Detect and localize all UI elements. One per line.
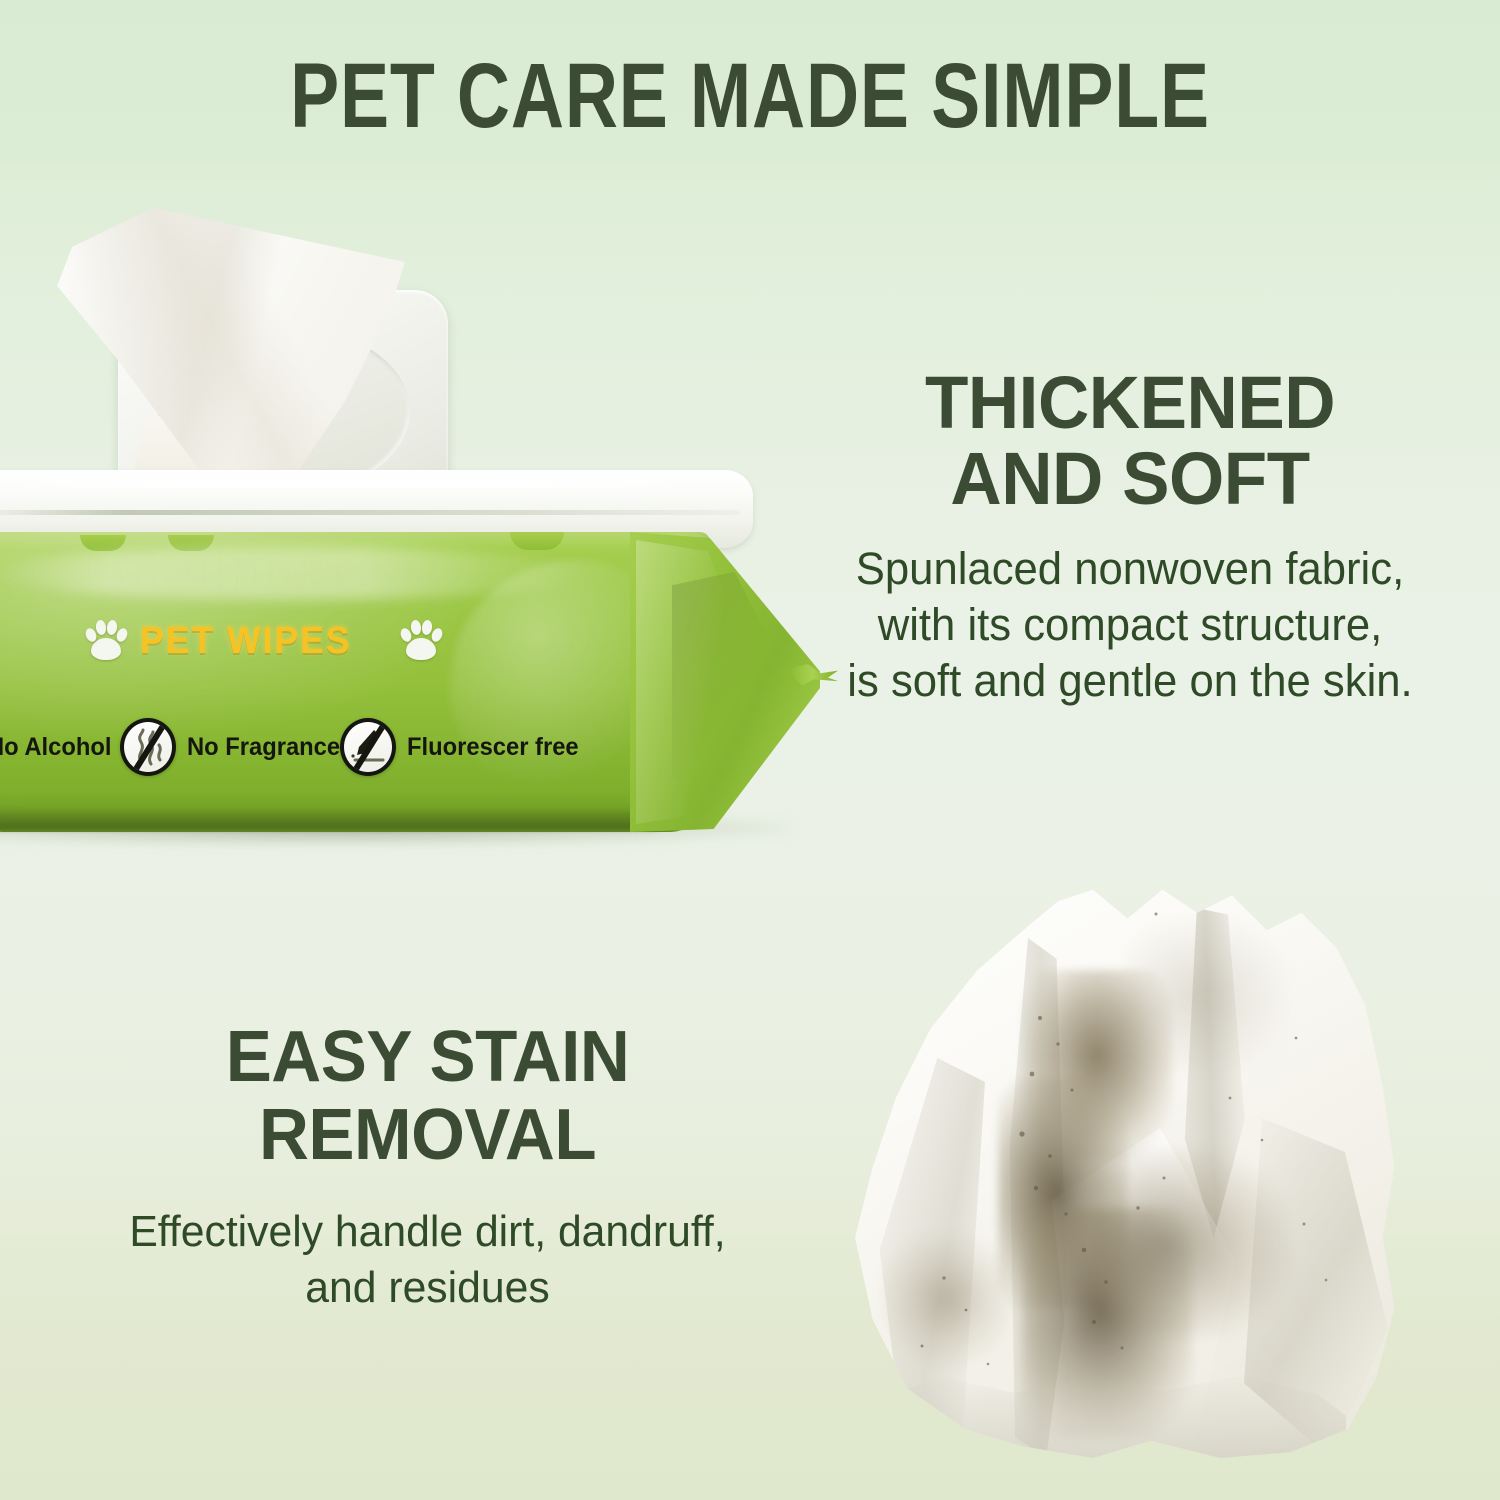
feature-body-line-2: with its compact structure, xyxy=(800,597,1460,653)
feature-body-line-1: Spunlaced nonwoven fabric, xyxy=(800,541,1460,597)
pack-top-plate-seam xyxy=(0,510,740,515)
page-title: PET CARE MADE SIMPLE xyxy=(150,50,1350,142)
paw-print-icon xyxy=(85,618,127,662)
soiled-cloth-detail xyxy=(826,878,1406,1458)
dirt-speckles xyxy=(826,878,1406,1458)
feature-body-line-1: Effectively handle dirt, dandruff, xyxy=(66,1204,789,1260)
claim-no-fragrance: No Fragrance xyxy=(120,718,348,776)
pack-brand-text: PET WIPES xyxy=(140,620,351,663)
feature-heading-line-2: REMOVAL xyxy=(70,1096,785,1174)
pack-taper-shadow xyxy=(672,572,792,792)
feature-heading-line-1: THICKENED xyxy=(804,365,1457,441)
feature-body-line-2: and residues xyxy=(66,1260,789,1316)
no-fragrance-icon xyxy=(120,718,176,776)
claim-fluorescer-free: Fluorescer free xyxy=(340,718,588,776)
pack-top-plate-highlight xyxy=(0,478,700,488)
claim-label: No Fragrance xyxy=(187,733,340,762)
feature-heading-line-1: EASY STAIN xyxy=(70,1018,785,1096)
feature-easy-stain-removal: EASY STAIN REMOVAL Effectively handle di… xyxy=(55,1018,800,1316)
product-pack-image: PET WIPES No Alcohol xyxy=(0,180,890,880)
soiled-wipe-photo xyxy=(826,878,1406,1458)
no-fluorescer-icon xyxy=(340,718,396,776)
feature-heading-line-2: AND SOFT xyxy=(804,441,1457,517)
paw-print-icon xyxy=(400,618,442,662)
feature-thickened-and-soft: THICKENED AND SOFT Spunlaced nonwoven fa… xyxy=(790,365,1470,709)
product-feature-infographic: PET CARE MADE SIMPLE PE xyxy=(0,0,1500,1500)
pack-bottom-edge xyxy=(0,808,674,830)
claim-label: No Alcohol xyxy=(0,733,111,762)
feature-body-line-3: is soft and gentle on the skin. xyxy=(800,653,1460,709)
claim-no-alcohol: No Alcohol xyxy=(0,718,118,776)
pack-claim-badges: No Alcohol No Fragrance xyxy=(0,718,680,776)
claim-label: Fluorescer free xyxy=(407,733,579,762)
